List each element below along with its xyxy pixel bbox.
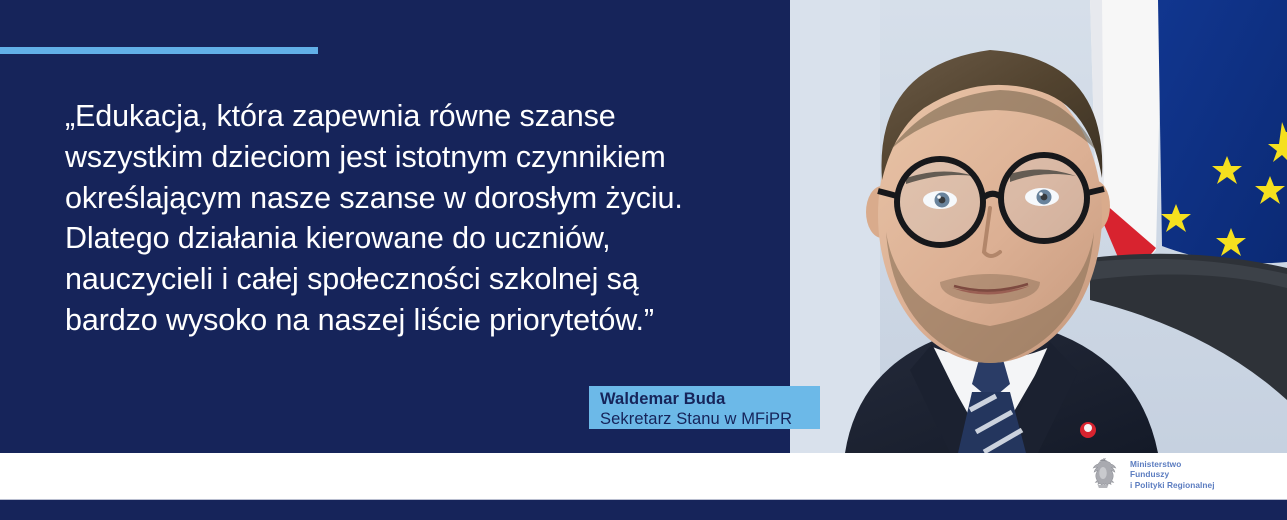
quote-banner: „Edukacja, która zapewnia równe szanse w…: [0, 0, 1287, 520]
ministry-line-2: Funduszy: [1130, 469, 1215, 479]
speaker-name: Waldemar Buda: [600, 389, 809, 409]
portrait-photo: [790, 0, 1287, 453]
portrait-illustration: [790, 0, 1287, 453]
attribution-badge: Waldemar Buda Sekretarz Stanu w MFiPR: [589, 386, 820, 429]
speaker-role: Sekretarz Stanu w MFiPR: [600, 409, 809, 429]
quote-block: „Edukacja, która zapewnia równe szanse w…: [65, 96, 765, 341]
ministry-logo: Ministerstwo Funduszy i Polityki Regiona…: [1085, 455, 1215, 494]
footer-navy-strip: [0, 500, 1287, 520]
ministry-line-3: i Polityki Regionalnej: [1130, 480, 1215, 490]
ministry-name: Ministerstwo Funduszy i Polityki Regiona…: [1130, 459, 1215, 490]
accent-bar: [0, 47, 318, 54]
ministry-line-1: Ministerstwo: [1130, 459, 1215, 469]
quote-text: „Edukacja, która zapewnia równe szanse w…: [65, 96, 765, 341]
polish-eagle-icon: [1085, 455, 1121, 494]
